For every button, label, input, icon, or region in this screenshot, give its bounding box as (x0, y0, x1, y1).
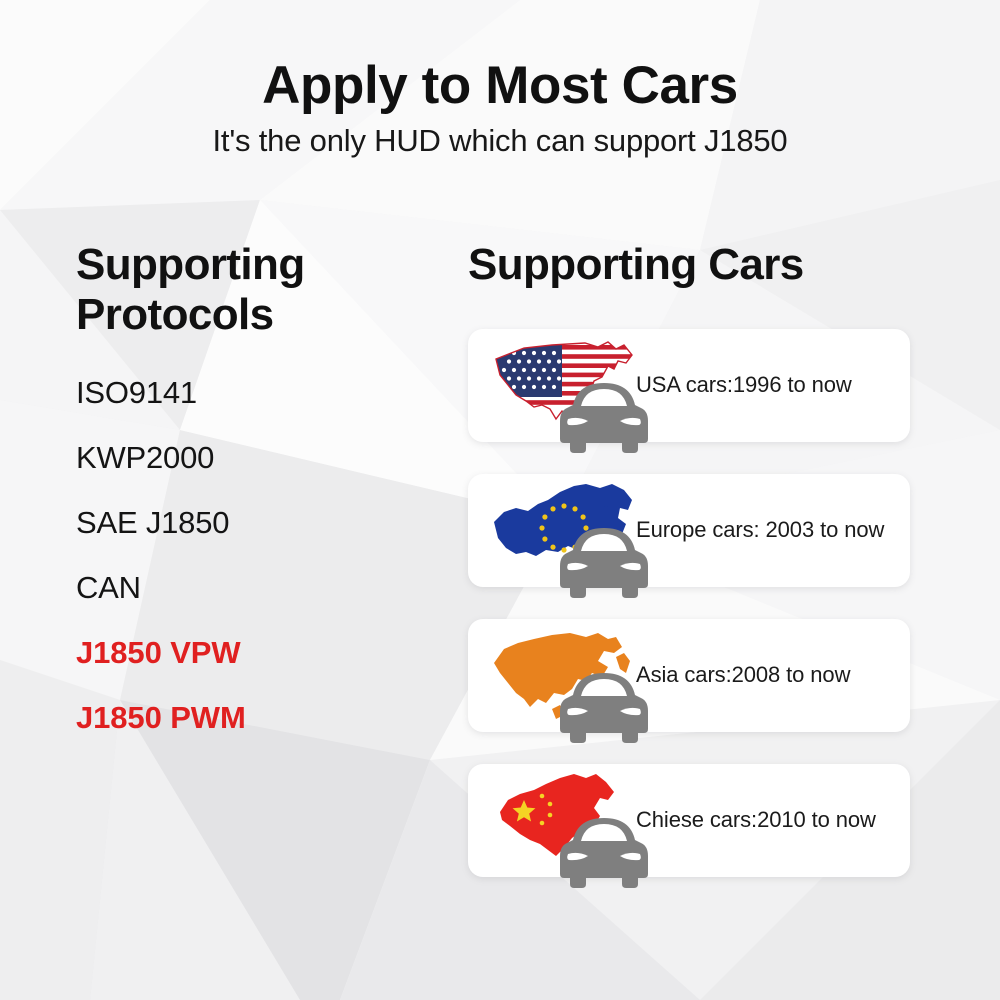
car-region-card: Asia cars:2008 to now (468, 619, 910, 732)
product-feature-graphic: Apply to Most Cars It's the only HUD whi… (0, 0, 1000, 1000)
card-inner: Chiese cars:2010 to now (468, 764, 910, 877)
protocol-item: KWP2000 (76, 438, 436, 503)
page-subtitle: It's the only HUD which can support J185… (0, 123, 1000, 159)
car-region-label: Chiese cars:2010 to now (636, 764, 876, 877)
car-region-card: Chiese cars:2010 to now (468, 764, 910, 877)
car-region-label: USA cars:1996 to now (636, 329, 852, 442)
header: Apply to Most Cars It's the only HUD whi… (0, 58, 1000, 159)
protocol-item: CAN (76, 568, 436, 633)
supporting-cars-section: Supporting Cars USA cars:1996 to nowEuro… (468, 240, 928, 909)
car-region-card: USA cars:1996 to now (468, 329, 910, 442)
car-region-card: Europe cars: 2003 to now (468, 474, 910, 587)
protocol-item: SAE J1850 (76, 503, 436, 568)
protocol-item: ISO9141 (76, 373, 436, 438)
protocol-item: J1850 PWM (76, 698, 436, 763)
protocols-heading: Supporting Protocols (76, 240, 376, 339)
card-inner: Europe cars: 2003 to now (468, 474, 910, 587)
protocol-item: J1850 VPW (76, 633, 436, 698)
car-card-list: USA cars:1996 to nowEurope cars: 2003 to… (468, 329, 928, 877)
supporting-protocols-section: Supporting Protocols ISO9141KWP2000SAE J… (76, 240, 436, 763)
page-title: Apply to Most Cars (0, 58, 1000, 114)
cars-heading: Supporting Cars (468, 240, 928, 290)
car-region-label: Asia cars:2008 to now (636, 619, 850, 732)
car-region-label: Europe cars: 2003 to now (636, 474, 884, 587)
card-inner: Asia cars:2008 to now (468, 619, 910, 732)
card-inner: USA cars:1996 to now (468, 329, 910, 442)
protocol-list: ISO9141KWP2000SAE J1850CANJ1850 VPWJ1850… (76, 373, 436, 763)
